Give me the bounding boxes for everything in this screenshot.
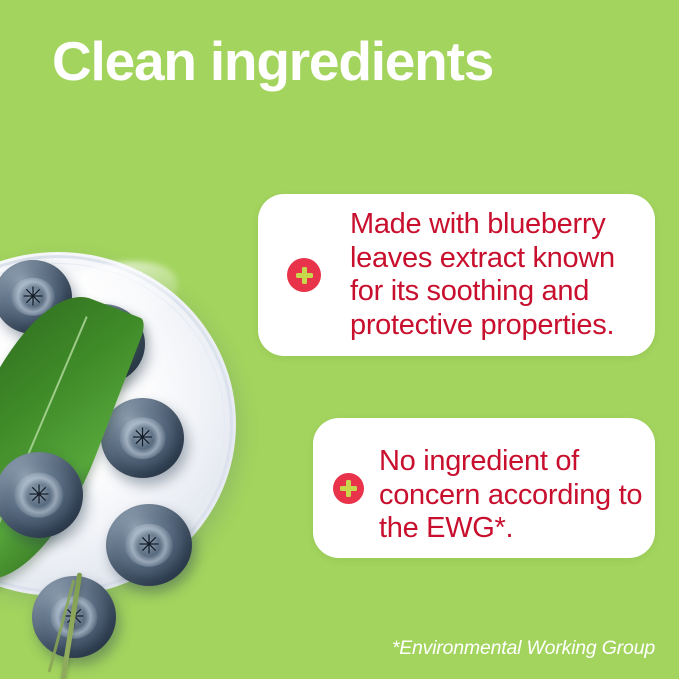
blueberry xyxy=(101,398,184,478)
promo-graphic-canvas: Clean ingredients Made with blueberry le… xyxy=(0,0,679,679)
footnote: *Environmental Working Group xyxy=(392,637,655,660)
benefit-card: Made with blueberry leaves extract known… xyxy=(258,194,655,356)
page-title: Clean ingredients xyxy=(52,31,493,92)
plus-icon xyxy=(296,267,313,284)
benefit-card-text: Made with blueberry leaves extract known… xyxy=(350,208,650,342)
benefit-card-text: No ingredient of concern according to th… xyxy=(379,445,651,546)
benefit-card: No ingredient of concern according to th… xyxy=(313,418,655,558)
blueberry-dish-photo xyxy=(0,252,236,598)
blueberry xyxy=(106,504,192,586)
plus-icon xyxy=(340,480,357,497)
plus-badge-icon xyxy=(333,473,364,504)
plus-badge-icon xyxy=(287,258,321,292)
